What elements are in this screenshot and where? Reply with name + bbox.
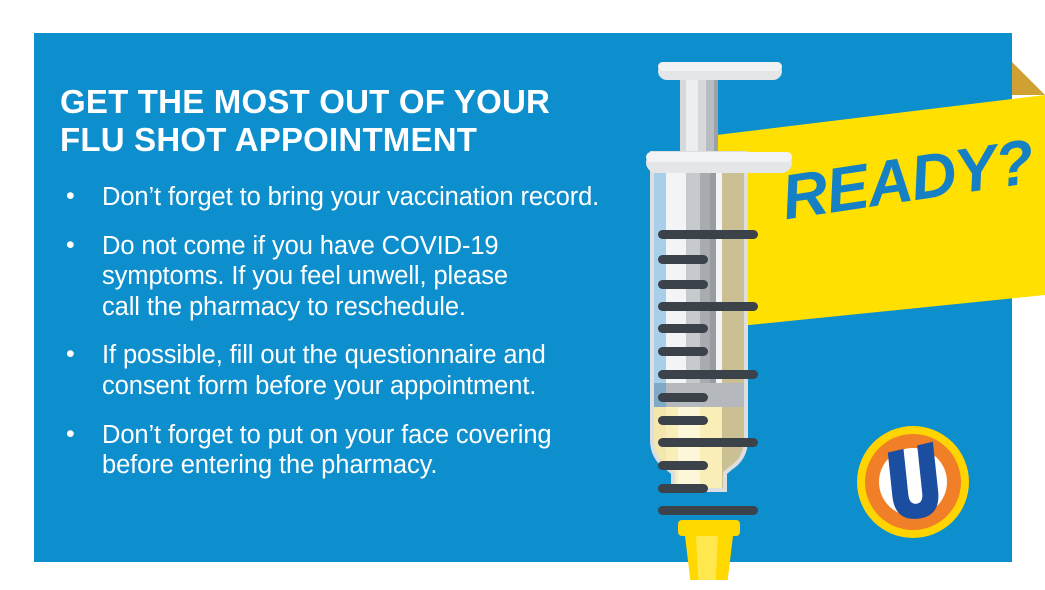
syringe-icon: [630, 50, 820, 580]
uniprix-logo-icon: [855, 424, 971, 540]
list-item: Do not come if you have COVID-19 symptom…: [60, 231, 660, 323]
poster-canvas: READY? GET THE MOST OUT OF YOUR FLU SHOT…: [0, 0, 1045, 590]
headline-line-1: GET THE MOST OUT OF YOUR: [60, 83, 640, 121]
headline-line-2: FLU SHOT APPOINTMENT: [60, 121, 640, 159]
needle-hub-collar: [678, 520, 740, 536]
list-item: Don’t forget to put on your face coverin…: [60, 420, 660, 481]
ribbon-fold-icon: [1012, 62, 1045, 95]
list-item: If possible, fill out the questionnaire …: [60, 340, 660, 401]
tips-list: Don’t forget to bring your vaccination r…: [60, 182, 660, 499]
page-title: GET THE MOST OUT OF YOUR FLU SHOT APPOIN…: [60, 83, 640, 158]
list-item: Don’t forget to bring your vaccination r…: [60, 182, 660, 213]
